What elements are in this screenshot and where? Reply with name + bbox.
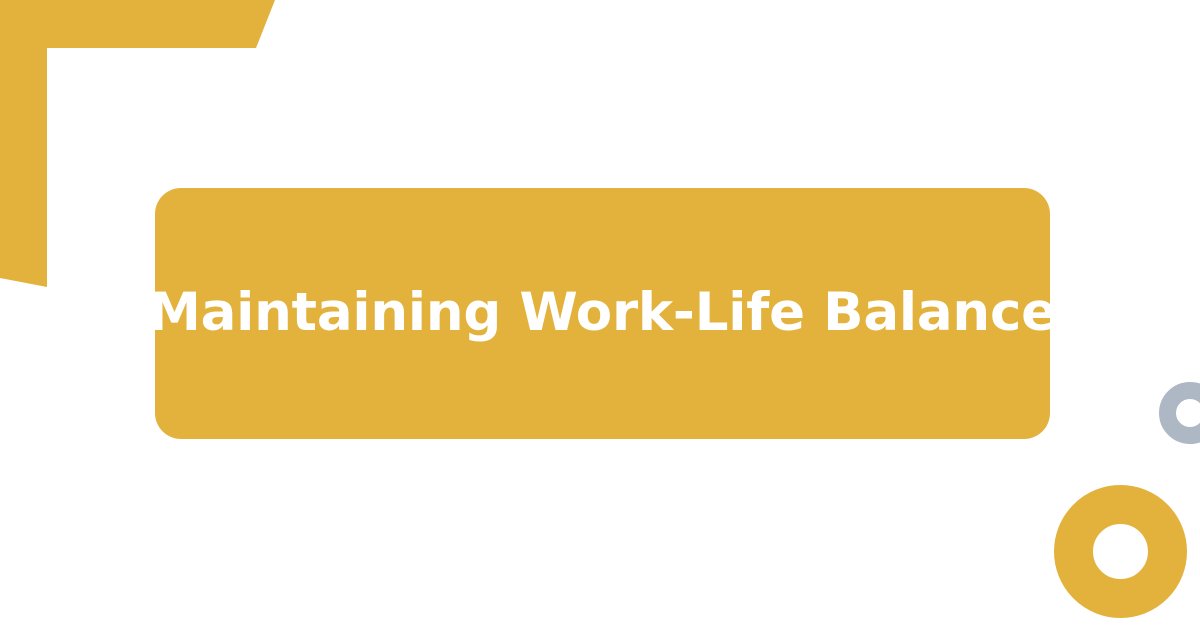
gray-ring-icon (1159, 382, 1200, 444)
page-title: Maintaining Work-Life Balance (148, 283, 1057, 344)
banner-canvas: Maintaining Work-Life Balance (0, 0, 1200, 630)
title-card: Maintaining Work-Life Balance (155, 188, 1050, 439)
yellow-ring-icon (1054, 485, 1187, 618)
